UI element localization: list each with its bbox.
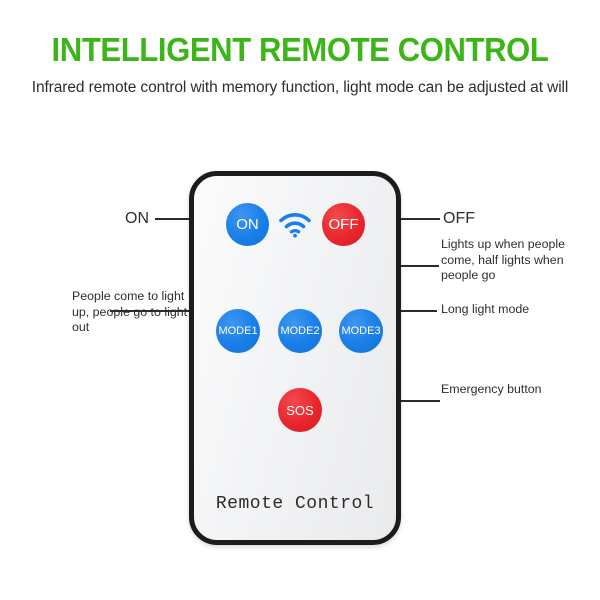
mode1-button[interactable]: MODE1: [216, 309, 260, 353]
page-title: INTELLIGENT REMOTE CONTROL: [18, 0, 582, 66]
on-button[interactable]: ON: [226, 203, 269, 246]
remote-control-device: ON OFF MODE1 MODE2 MODE3 SOS Remote Cont…: [189, 171, 401, 545]
off-button[interactable]: OFF: [322, 203, 365, 246]
annotation-sos: Emergency button: [441, 382, 561, 398]
mode3-button[interactable]: MODE3: [339, 309, 383, 353]
remote-brand-label: Remote Control: [194, 494, 396, 514]
wifi-signal-icon: [278, 209, 312, 239]
annotation-on: ON: [125, 209, 149, 229]
sos-button[interactable]: SOS: [278, 388, 322, 432]
annotation-mode3: Long light mode: [441, 302, 581, 318]
header: INTELLIGENT REMOTE CONTROL Infrared remo…: [0, 0, 600, 99]
page-subtitle: Infrared remote control with memory func…: [0, 66, 600, 99]
annotation-off: OFF: [443, 209, 475, 229]
annotation-mode2: Lights up when people come, half lights …: [441, 237, 571, 284]
mode2-button[interactable]: MODE2: [278, 309, 322, 353]
annotation-mode1: People come to light up, people go to li…: [72, 289, 188, 336]
